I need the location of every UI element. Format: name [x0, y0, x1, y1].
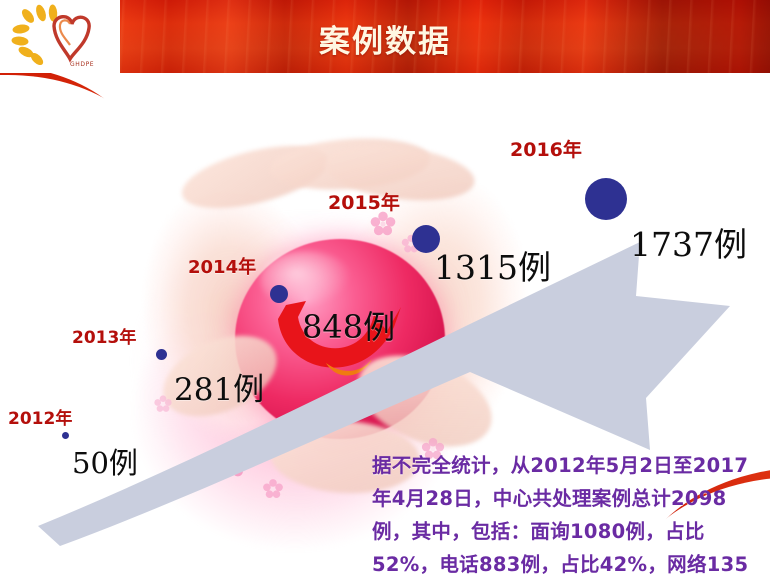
blossom-icon: [154, 395, 172, 413]
data-point-2012: [62, 432, 69, 439]
finger: [268, 133, 431, 194]
slide-canvas: 案例数据 GHDPE: [0, 0, 770, 575]
year-label-2016: 2016年: [510, 135, 582, 162]
data-point-2014: [270, 285, 288, 303]
year-label-2015: 2015年: [328, 188, 400, 215]
red-curve-left-mask: [0, 75, 158, 235]
year-label-2014: 2014年: [188, 253, 256, 279]
summary-paragraph: 据不完全统计，从2012年5月2日至2017年4月28日，中心共处理案例总计20…: [372, 449, 762, 575]
slide-body: 2012年 2013年 2014年 2015年 2016年 50例 281例 8…: [0, 73, 770, 575]
finger: [176, 134, 334, 221]
blossom-icon: [263, 479, 284, 500]
blossom-icon: [219, 450, 248, 479]
year-label-2012: 2012年: [8, 404, 72, 429]
heart-sun-logo: GHDPE: [8, 2, 112, 72]
logo-box: GHDPE: [0, 0, 120, 73]
value-label-2016: 1737例: [630, 218, 747, 266]
value-label-2013: 281例: [174, 364, 264, 409]
value-label-2014: 848例: [302, 302, 395, 348]
value-label-2015: 1315例: [434, 241, 551, 289]
finger: [345, 338, 505, 465]
logo-wordmark: GHDPE: [70, 61, 94, 68]
data-point-2016: [585, 178, 627, 220]
value-label-2012: 50例: [72, 440, 138, 482]
data-point-2013: [156, 349, 167, 360]
year-label-2013: 2013年: [72, 323, 136, 348]
